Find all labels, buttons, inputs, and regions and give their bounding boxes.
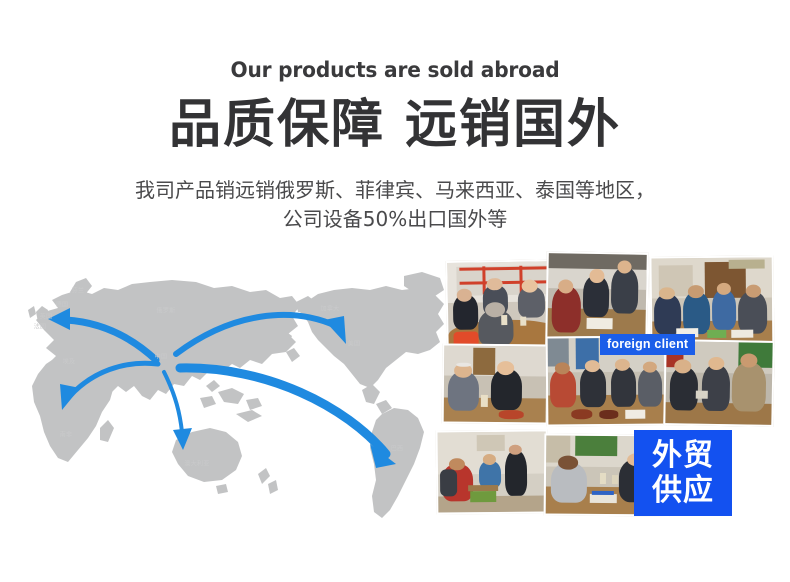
world-map: 英国 德国 法国 芬兰 俄罗斯 中国 埃及 南非 加拿大 美国 巴西 澳大利亚 (0, 268, 450, 536)
map-label-egypt: 埃及 (63, 357, 76, 366)
subtitle-line-1: 我司产品销远销俄罗斯、菲律宾、马来西亚、泰国等地区， (0, 176, 790, 205)
badge-trade-line-1: 外贸 (652, 438, 714, 473)
map-label-south-africa: 南非 (60, 430, 73, 439)
subtitle: 我司产品销远销俄罗斯、菲律宾、马来西亚、泰国等地区， 公司设备50%出口国外等 (0, 176, 790, 234)
page-title: 品质保障 远销国外 (0, 94, 790, 156)
photo-collage: foreign client 外贸 供应 (428, 252, 786, 520)
badge-foreign-client: foreign client (600, 334, 695, 355)
map-label-germany: 德国 (56, 300, 69, 309)
map-label-russia: 俄罗斯 (157, 306, 176, 315)
map-label-finland: 芬兰 (72, 286, 85, 295)
english-tagline: Our products are sold abroad (16, 58, 774, 82)
promo-banner: Our products are sold abroad 品质保障 远销国外 我… (0, 0, 790, 582)
badge-trade-line-2: 供应 (652, 473, 714, 508)
map-label-australia: 澳大利亚 (184, 459, 209, 468)
map-label-england: 英国 (40, 312, 53, 321)
map-label-usa: 美国 (348, 339, 361, 348)
map-label-china: 中国 (155, 352, 168, 361)
subtitle-line-2: 公司设备50%出口国外等 (0, 205, 790, 234)
map-landmasses (28, 272, 444, 518)
badge-trade-supply: 外贸 供应 (634, 430, 732, 516)
map-label-canada: 加拿大 (321, 304, 340, 313)
photo-office-visit (436, 430, 549, 515)
map-label-brazil: 巴西 (391, 444, 404, 453)
photo-discussion-pair (442, 344, 549, 425)
map-label-france: 法国 (34, 322, 47, 331)
